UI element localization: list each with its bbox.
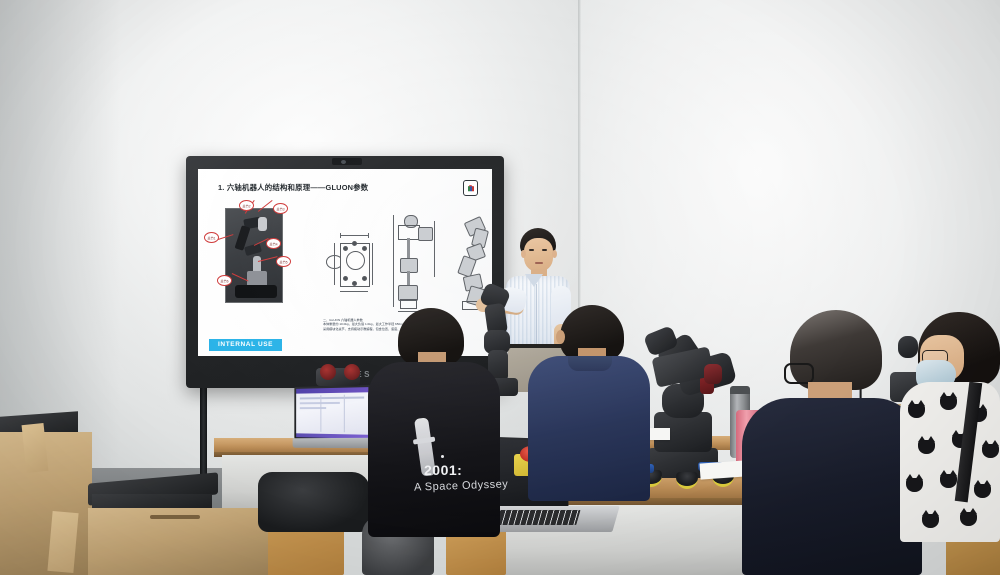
thermos-cap	[730, 386, 750, 394]
attendee-front-left-body	[368, 362, 500, 537]
tshirt-graphic-dot	[441, 455, 444, 458]
slide-callout-1: 关节1	[204, 232, 219, 243]
laptop-left[interactable]	[294, 385, 370, 441]
presenter-collar	[525, 274, 543, 287]
robot-arm-photo	[225, 208, 283, 303]
laptop-left-keyboard[interactable]	[293, 438, 375, 448]
cardboard-box-handle	[150, 515, 200, 519]
tshirt-title-line-1: 2001:	[424, 462, 462, 478]
cardboard-box-front-flap	[47, 511, 78, 573]
handout-papers-center	[699, 460, 746, 479]
attendee-navy-polo-body	[528, 356, 650, 501]
slide-callout-6: 关节6	[217, 275, 232, 286]
attendee-glasses-right-body	[742, 398, 922, 575]
slide-callout-2: 关节2	[239, 200, 254, 211]
slide-title: 1. 六轴机器人的结构和原理——GLUON参数	[218, 182, 368, 193]
slide-callout-4-label: 关节4	[269, 241, 277, 246]
attendee-navy-polo-collar	[568, 356, 612, 371]
slide-callout-3: 关节3	[273, 203, 288, 214]
presenter-eye-right	[542, 249, 547, 251]
presenter-ear-left	[521, 250, 526, 258]
slide-callout-1-label: 关节1	[207, 235, 215, 240]
slide-callout-3-label: 关节3	[276, 206, 284, 211]
laptop-left-screen[interactable]	[296, 387, 368, 439]
shelf-camera-lens-left	[320, 364, 336, 380]
camera-lens-right	[898, 336, 918, 358]
webcam-icon	[332, 158, 362, 165]
slide-callout-4: 关节4	[266, 238, 281, 249]
classroom-scene: 1. 六轴机器人的结构和原理——GLUON参数 关节1	[0, 0, 1000, 575]
presenter-ear-right	[552, 250, 557, 258]
slide-callout-2-label: 关节2	[242, 203, 250, 208]
laptop-center-keyboard[interactable]	[480, 506, 619, 532]
glasses-icon	[784, 363, 814, 384]
slide-callout-5: 关节5	[276, 256, 291, 267]
backpack	[258, 472, 370, 532]
presenter-eye-left	[529, 249, 534, 251]
black-foam-front-base	[92, 494, 212, 508]
status-badge: INTERNAL USE	[209, 339, 282, 352]
base-mount-drawing	[326, 229, 382, 301]
company-crest-logo	[463, 180, 478, 196]
camera-accent-center	[704, 364, 722, 384]
attendee-masked-body	[900, 382, 1000, 542]
slide-callout-6-label: 关节6	[220, 278, 228, 283]
attendee-navy-polo-ear	[556, 330, 565, 344]
slide-callout-5-label: 关节5	[279, 259, 287, 264]
presenter-face	[524, 238, 553, 272]
side-dimension-drawing	[390, 211, 442, 311]
shelf-camera-lens-right	[344, 364, 360, 380]
presenter-shirt-placket	[536, 284, 537, 344]
